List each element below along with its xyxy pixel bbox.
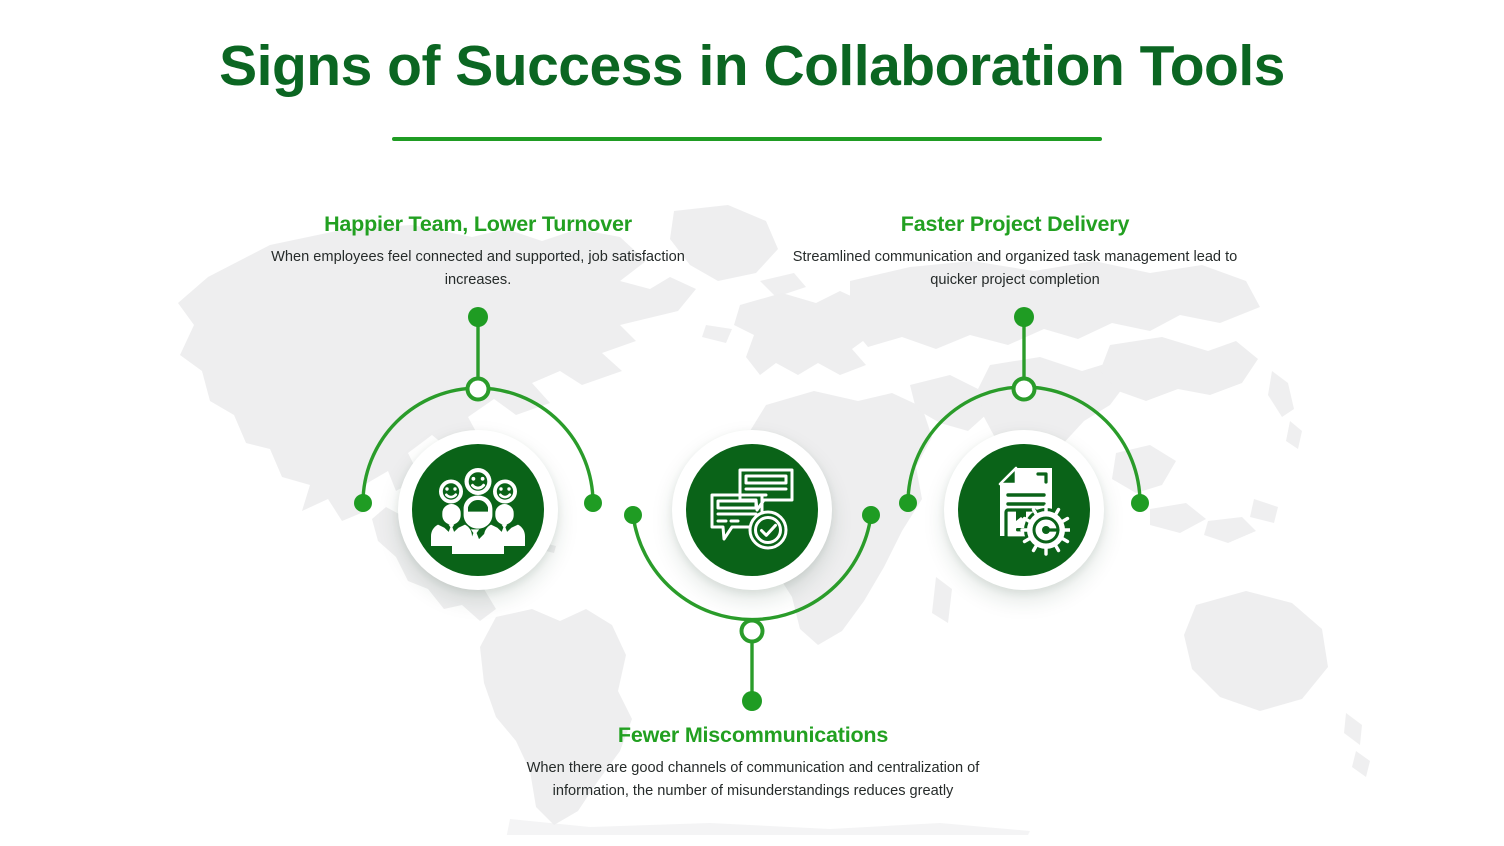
caption-title: Fewer Miscommunications — [487, 723, 1019, 748]
icon-node-happier-team[interactable] — [390, 422, 566, 598]
junction-ring-card-1 — [468, 379, 489, 400]
icon-disc — [686, 444, 818, 576]
caption-description: When employees feel connected and suppor… — [268, 246, 688, 293]
people-group-smiley-icon — [430, 462, 526, 558]
icon-disc — [412, 444, 544, 576]
infographic-canvas: Signs of Success in Collaboration Tools — [0, 0, 1504, 846]
caption-fewer-miscommunications: Fewer Miscommunications When there are g… — [487, 723, 1019, 804]
junction-ring-card-2 — [742, 621, 763, 642]
caption-faster-project-delivery: Faster Project Delivery Streamlined comm… — [778, 212, 1252, 293]
icon-node-faster-project-delivery[interactable] — [936, 422, 1112, 598]
header: Signs of Success in Collaboration Tools — [0, 36, 1504, 96]
title-underline-rule — [392, 137, 1102, 141]
caption-description: When there are good channels of communic… — [487, 757, 1019, 804]
caption-title: Faster Project Delivery — [778, 212, 1252, 237]
junction-ring-card-3 — [1014, 379, 1035, 400]
page-title: Signs of Success in Collaboration Tools — [0, 36, 1504, 96]
caption-description: Streamlined communication and organized … — [778, 246, 1252, 293]
caption-title: Happier Team, Lower Turnover — [268, 212, 688, 237]
chat-bubbles-check-icon — [706, 464, 798, 556]
document-package-gear-icon — [978, 464, 1070, 556]
caption-happier-team: Happier Team, Lower Turnover When employ… — [268, 212, 688, 293]
icon-node-fewer-miscommunications[interactable] — [664, 422, 840, 598]
icon-disc — [958, 444, 1090, 576]
